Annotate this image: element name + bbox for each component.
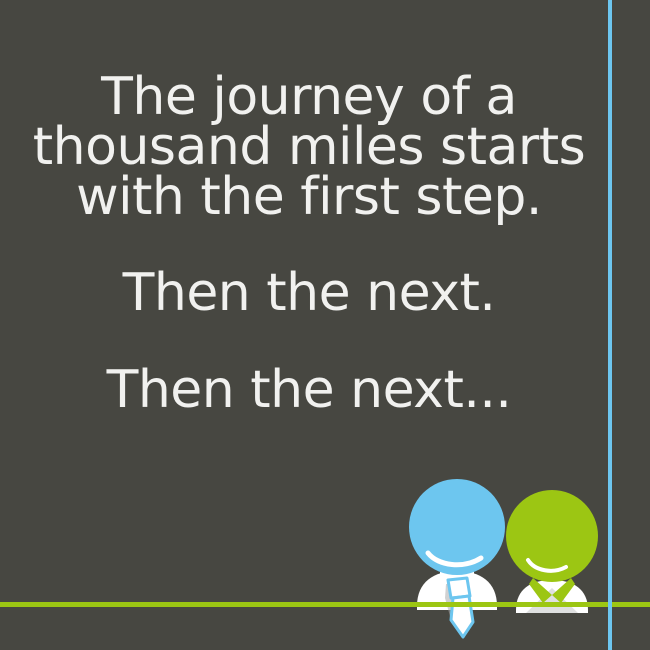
- green-figure-head: [506, 490, 598, 582]
- green-figure: [506, 490, 598, 613]
- quote-line-2: thousand miles starts: [0, 122, 618, 172]
- quote-spacer-2: [0, 318, 618, 365]
- blue-figure-head: [409, 479, 505, 575]
- quote-spacer-1: [0, 222, 618, 268]
- quote-slide: The journey of a thousand miles starts w…: [0, 0, 650, 650]
- quote-line-5: Then the next...: [0, 365, 618, 415]
- quote-line-3: with the first step.: [0, 172, 618, 222]
- quote-line-1: The journey of a: [0, 72, 618, 122]
- quote-line-4: Then the next.: [0, 268, 618, 318]
- vertical-accent-rule: [608, 0, 612, 650]
- horizontal-accent-rule: [0, 602, 650, 607]
- blue-figure: [409, 479, 505, 638]
- quote-text-block: The journey of a thousand miles starts w…: [0, 72, 618, 415]
